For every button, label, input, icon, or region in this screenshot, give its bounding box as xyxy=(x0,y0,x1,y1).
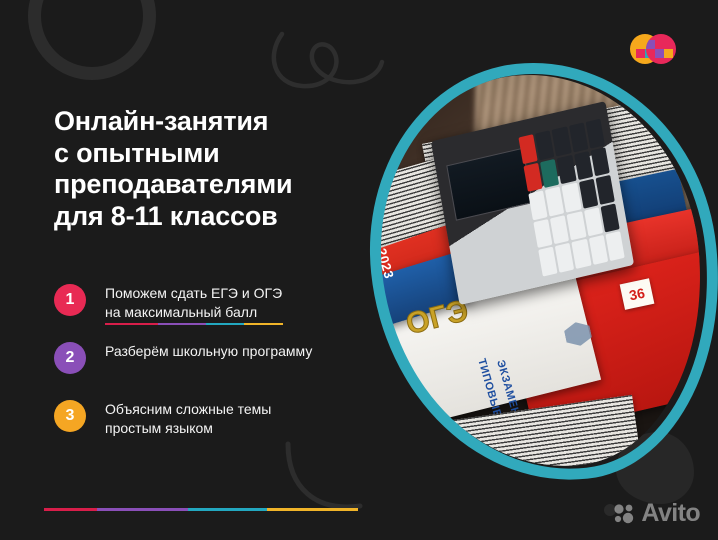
decorative-ring-icon xyxy=(28,0,156,80)
benefit-underline-accent xyxy=(105,323,283,325)
benefit-number-badge: 1 xyxy=(54,284,86,316)
list-item: 1 Поможем сдать ЕГЭ и ОГЭ на максимальны… xyxy=(54,283,374,329)
headline-line-2: с опытными xyxy=(54,138,364,170)
headline-line-3: преподавателями xyxy=(54,169,364,201)
headline-line-1: Онлайн-занятия xyxy=(54,106,364,138)
bottom-accent-rule xyxy=(44,508,358,511)
benefit-text: Разберём школьную программу xyxy=(105,341,312,361)
benefit-text-line: на максимальный балл xyxy=(105,303,282,322)
promo-card: 36 ОГЭ МАТЕМ ФИЗИКА 2023 30 ТИПОВЫЕ ЭКЗА… xyxy=(0,0,718,540)
benefit-text-line: простым языком xyxy=(105,419,271,438)
study-materials-photo: 36 ОГЭ МАТЕМ ФИЗИКА 2023 30 ТИПОВЫЕ ЭКЗА… xyxy=(372,62,718,482)
page-title: Онлайн-занятия с опытными преподавателям… xyxy=(54,106,364,232)
avito-label: Avito xyxy=(641,499,700,528)
benefits-list: 1 Поможем сдать ЕГЭ и ОГЭ на максимальны… xyxy=(54,283,374,445)
list-item: 2 Разберём школьную программу xyxy=(54,341,374,387)
benefit-text-line: Разберём школьную программу xyxy=(105,342,312,361)
avito-dots-icon xyxy=(614,503,636,525)
list-item: 3 Объясним сложные темы простым языком xyxy=(54,399,374,445)
benefit-text-line: Поможем сдать ЕГЭ и ОГЭ xyxy=(105,284,282,303)
benefit-number-badge: 2 xyxy=(54,342,86,374)
headline-line-4: для 8-11 классов xyxy=(54,201,364,233)
benefit-text-line: Объясним сложные темы xyxy=(105,400,271,419)
benefit-text: Поможем сдать ЕГЭ и ОГЭ на максимальный … xyxy=(105,283,282,321)
benefit-number-badge: 3 xyxy=(54,400,86,432)
avito-watermark: Avito xyxy=(614,499,700,528)
benefit-text: Объясним сложные темы простым языком xyxy=(105,399,271,437)
